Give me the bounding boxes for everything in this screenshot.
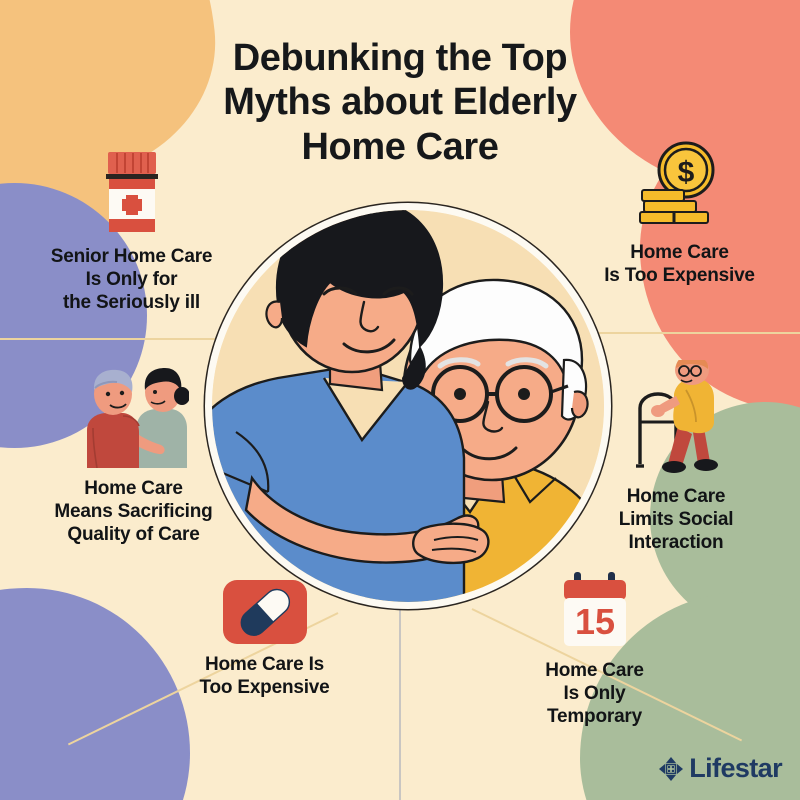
- caption-line: Home Care Is: [152, 653, 377, 676]
- two-people-icon: [26, 368, 241, 468]
- capsule-pill-icon: [152, 580, 377, 644]
- caption-line: Is Too Expensive: [577, 264, 782, 287]
- title-line-1: Debunking the Top: [140, 36, 660, 80]
- caption-line: Home Care: [576, 485, 776, 508]
- myth-card-limits-social[interactable]: Home Care Limits Social Interaction: [576, 360, 776, 555]
- caption-line: Home Care: [577, 241, 782, 264]
- caption-line: Temporary: [482, 705, 707, 728]
- calendar-icon: 15: [482, 572, 707, 650]
- connector-line-left: [0, 338, 232, 340]
- coin-stack-icon: $: [577, 140, 782, 232]
- myth-card-caption: Home Care Is Only Temporary: [482, 659, 707, 729]
- caption-line: the Seriously ill: [24, 291, 239, 314]
- caption-line: Interaction: [576, 531, 776, 554]
- caption-line: Limits Social: [576, 508, 776, 531]
- myth-card-caption: Home Care Is Too Expensive: [577, 241, 782, 287]
- watermark-logo[interactable]: Lifestar: [658, 753, 782, 784]
- myth-card-caption: Senior Home Care Is Only for the Serious…: [24, 245, 239, 315]
- hero-illustration: [205, 203, 611, 609]
- myth-card-seriously-ill[interactable]: Senior Home Care Is Only for the Serious…: [24, 150, 239, 315]
- myth-card-too-expensive-coins[interactable]: $ Home Care Is Too Expensive: [577, 140, 782, 287]
- caption-line: Is Only: [482, 682, 707, 705]
- title-line-2: Myths about Elderly: [140, 80, 660, 124]
- calendar-day-number: 15: [574, 601, 614, 642]
- caption-line: Quality of Care: [26, 523, 241, 546]
- svg-text:$: $: [677, 156, 694, 189]
- myth-card-sacrificing-quality[interactable]: Home Care Means Sacrificing Quality of C…: [26, 368, 241, 547]
- caption-line: Home Care: [26, 477, 241, 500]
- myth-card-too-expensive-pill[interactable]: Home Care Is Too Expensive: [152, 580, 377, 699]
- caption-line: Senior Home Care: [24, 245, 239, 268]
- caption-line: Home Care: [482, 659, 707, 682]
- medicine-bottle-icon: [24, 150, 239, 236]
- caption-line: Is Only for: [24, 268, 239, 291]
- infographic-canvas: Debunking the Top Myths about Elderly Ho…: [0, 0, 800, 800]
- connector-line-center-vertical: [399, 580, 401, 800]
- elderly-walker-icon: [576, 360, 776, 476]
- lifestar-pinwheel-icon: [658, 756, 684, 782]
- connector-line-right: [576, 332, 800, 334]
- caption-line: Means Sacrificing: [26, 500, 241, 523]
- myth-card-caption: Home Care Limits Social Interaction: [576, 485, 776, 555]
- caption-line: Too Expensive: [152, 676, 377, 699]
- myth-card-caption: Home Care Means Sacrificing Quality of C…: [26, 477, 241, 547]
- watermark-brand-text: Lifestar: [689, 753, 782, 784]
- myth-card-only-temporary[interactable]: 15 Home Care Is Only Temporary: [482, 572, 707, 729]
- myth-card-caption: Home Care Is Too Expensive: [152, 653, 377, 699]
